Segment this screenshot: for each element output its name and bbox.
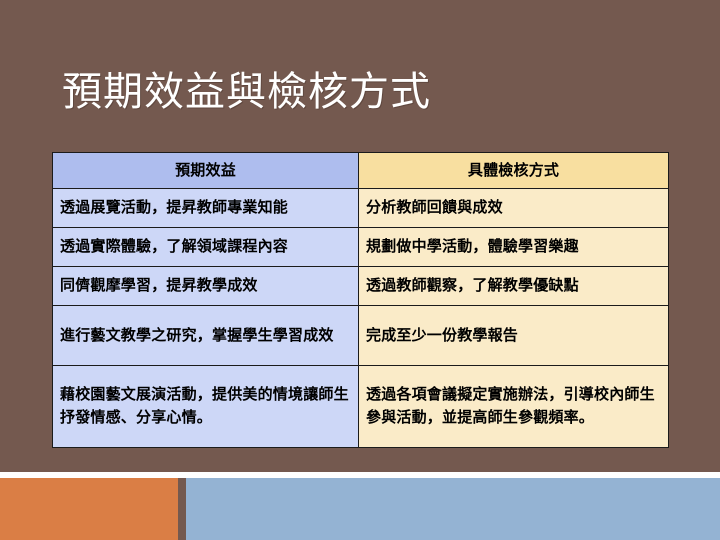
cell-outcome: 透過展覽活動，提昇教師專業知能 (53, 189, 359, 228)
table-row: 透過展覽活動，提昇教師專業知能 分析教師回饋與成效 (53, 189, 669, 228)
cell-outcome: 透過實際體驗，了解領域課程內容 (53, 228, 359, 267)
cell-verification: 完成至少一份教學報告 (359, 306, 669, 366)
cell-verification: 分析教師回饋與成效 (359, 189, 669, 228)
column-header-verification-method: 具體檢核方式 (359, 153, 669, 189)
cell-verification: 透過教師觀察，了解教學優缺點 (359, 267, 669, 306)
footer-accent-bar-blue (186, 478, 720, 540)
page-title: 預期效益與檢核方式 (62, 66, 662, 118)
expected-outcomes-table: 預期效益 具體檢核方式 透過展覽活動，提昇教師專業知能 分析教師回饋與成效 透過… (52, 152, 669, 448)
table-row: 進行藝文教學之研究，掌握學生學習成效 完成至少一份教學報告 (53, 306, 669, 366)
footer-accent-bar-orange (0, 478, 178, 540)
table-header-row: 預期效益 具體檢核方式 (53, 153, 669, 189)
cell-outcome: 同儕觀摩學習，提昇教學成效 (53, 267, 359, 306)
cell-outcome: 藉校園藝文展演活動，提供美的情境讓師生抒發情感、分享心情。 (53, 366, 359, 448)
table-row: 透過實際體驗，了解領域課程內容 規劃做中學活動，體驗學習樂趣 (53, 228, 669, 267)
cell-verification: 透過各項會議擬定實施辦法，引導校內師生參與活動，並提高師生參觀頻率。 (359, 366, 669, 448)
cell-outcome: 進行藝文教學之研究，掌握學生學習成效 (53, 306, 359, 366)
cell-verification: 規劃做中學活動，體驗學習樂趣 (359, 228, 669, 267)
slide-canvas: 預期效益與檢核方式 預期效益 具體檢核方式 透過展覽活動，提昇教師專業知能 分析… (0, 0, 720, 540)
column-header-expected-outcome: 預期效益 (53, 153, 359, 189)
table-row: 藉校園藝文展演活動，提供美的情境讓師生抒發情感、分享心情。 透過各項會議擬定實施… (53, 366, 669, 448)
table-row: 同儕觀摩學習，提昇教學成效 透過教師觀察，了解教學優缺點 (53, 267, 669, 306)
